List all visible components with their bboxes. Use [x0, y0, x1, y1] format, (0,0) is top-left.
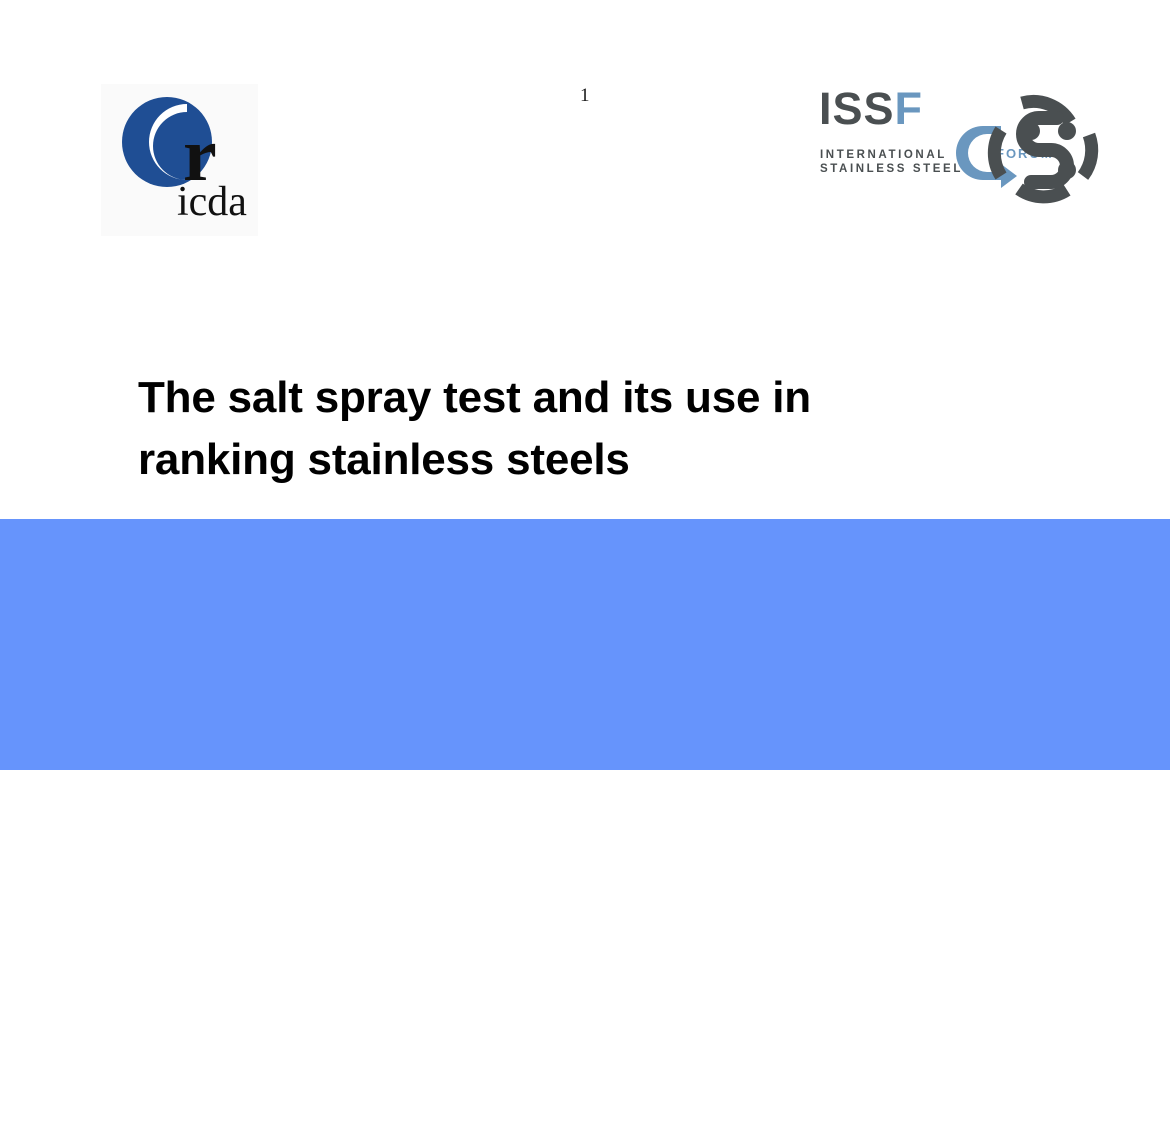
issf-emblem-icon: FORUM [939, 88, 1107, 204]
issf-logo: ISSF INTERNATIONAL STAINLESS STEEL FORUM [817, 86, 1107, 204]
icda-logo-mark: r icda [101, 84, 258, 236]
subtitle-band: The test and its limits [0, 519, 1170, 770]
page-title: The salt spray test and its use in ranki… [138, 367, 1018, 491]
slide-canvas: r icda 1 ISSF INTERNATIONAL STAINLESS ST… [0, 0, 1170, 770]
issf-wordmark: ISSF [819, 86, 923, 131]
issf-dot-2-icon [1058, 122, 1076, 140]
icda-logo: r icda [101, 84, 258, 236]
subtitle-band-text: The test and its limits [155, 1092, 559, 1144]
issf-wordmark-f: F [895, 83, 924, 134]
icda-wordmark: icda [177, 179, 247, 225]
page-title-line-1: The salt spray test and its use in [138, 367, 1018, 429]
issf-wordmark-iss: ISS [819, 83, 895, 134]
page-title-line-2: ranking stainless steels [138, 429, 1018, 491]
page-number: 1 [580, 86, 590, 105]
